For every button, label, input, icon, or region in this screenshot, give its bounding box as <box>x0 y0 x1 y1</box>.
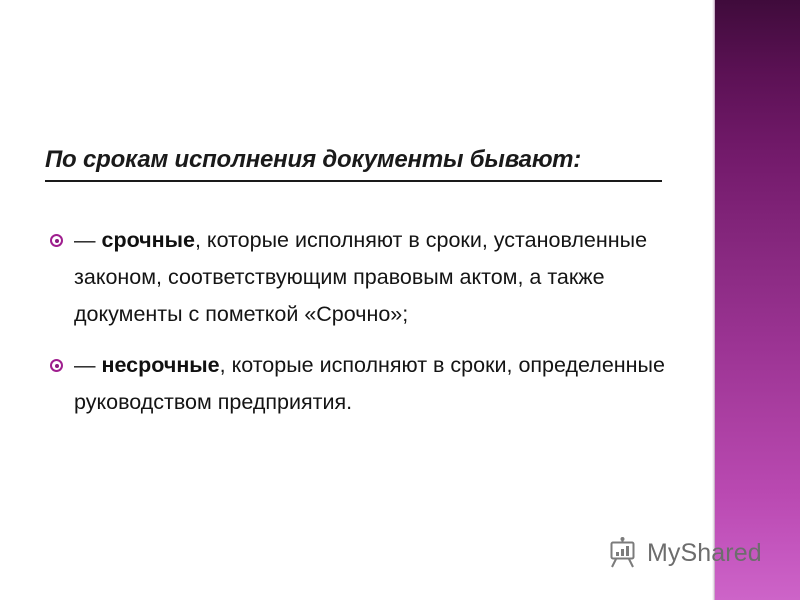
emphasis-term: срочные <box>101 228 194 252</box>
em-dash: — <box>74 228 96 252</box>
list-item: — несрочные, которые исполняют в сроки, … <box>48 347 673 421</box>
title-underline <box>45 180 662 182</box>
slide-canvas: По срокам исполнения документы бывают: —… <box>0 0 800 600</box>
band-edge-highlight <box>712 0 715 600</box>
list-item: — срочные, которые исполняют в сроки, ус… <box>48 222 673 333</box>
bullet-list: — срочные, которые исполняют в сроки, ус… <box>48 222 673 421</box>
ring-dot-bullet-icon <box>50 359 63 372</box>
watermark: MyShared <box>606 536 762 570</box>
emphasis-term: несрочные <box>101 353 219 377</box>
em-dash: — <box>74 353 96 377</box>
page-title: По срокам исполнения документы бывают: <box>45 146 685 174</box>
presentation-chart-icon <box>606 536 640 570</box>
list-item-text: — несрочные, которые исполняют в сроки, … <box>74 353 665 414</box>
list-item-text: — срочные, которые исполняют в сроки, ус… <box>74 228 647 326</box>
watermark-label: MyShared <box>647 541 762 566</box>
ring-dot-bullet-icon <box>50 234 63 247</box>
purple-gradient-band <box>715 0 800 600</box>
